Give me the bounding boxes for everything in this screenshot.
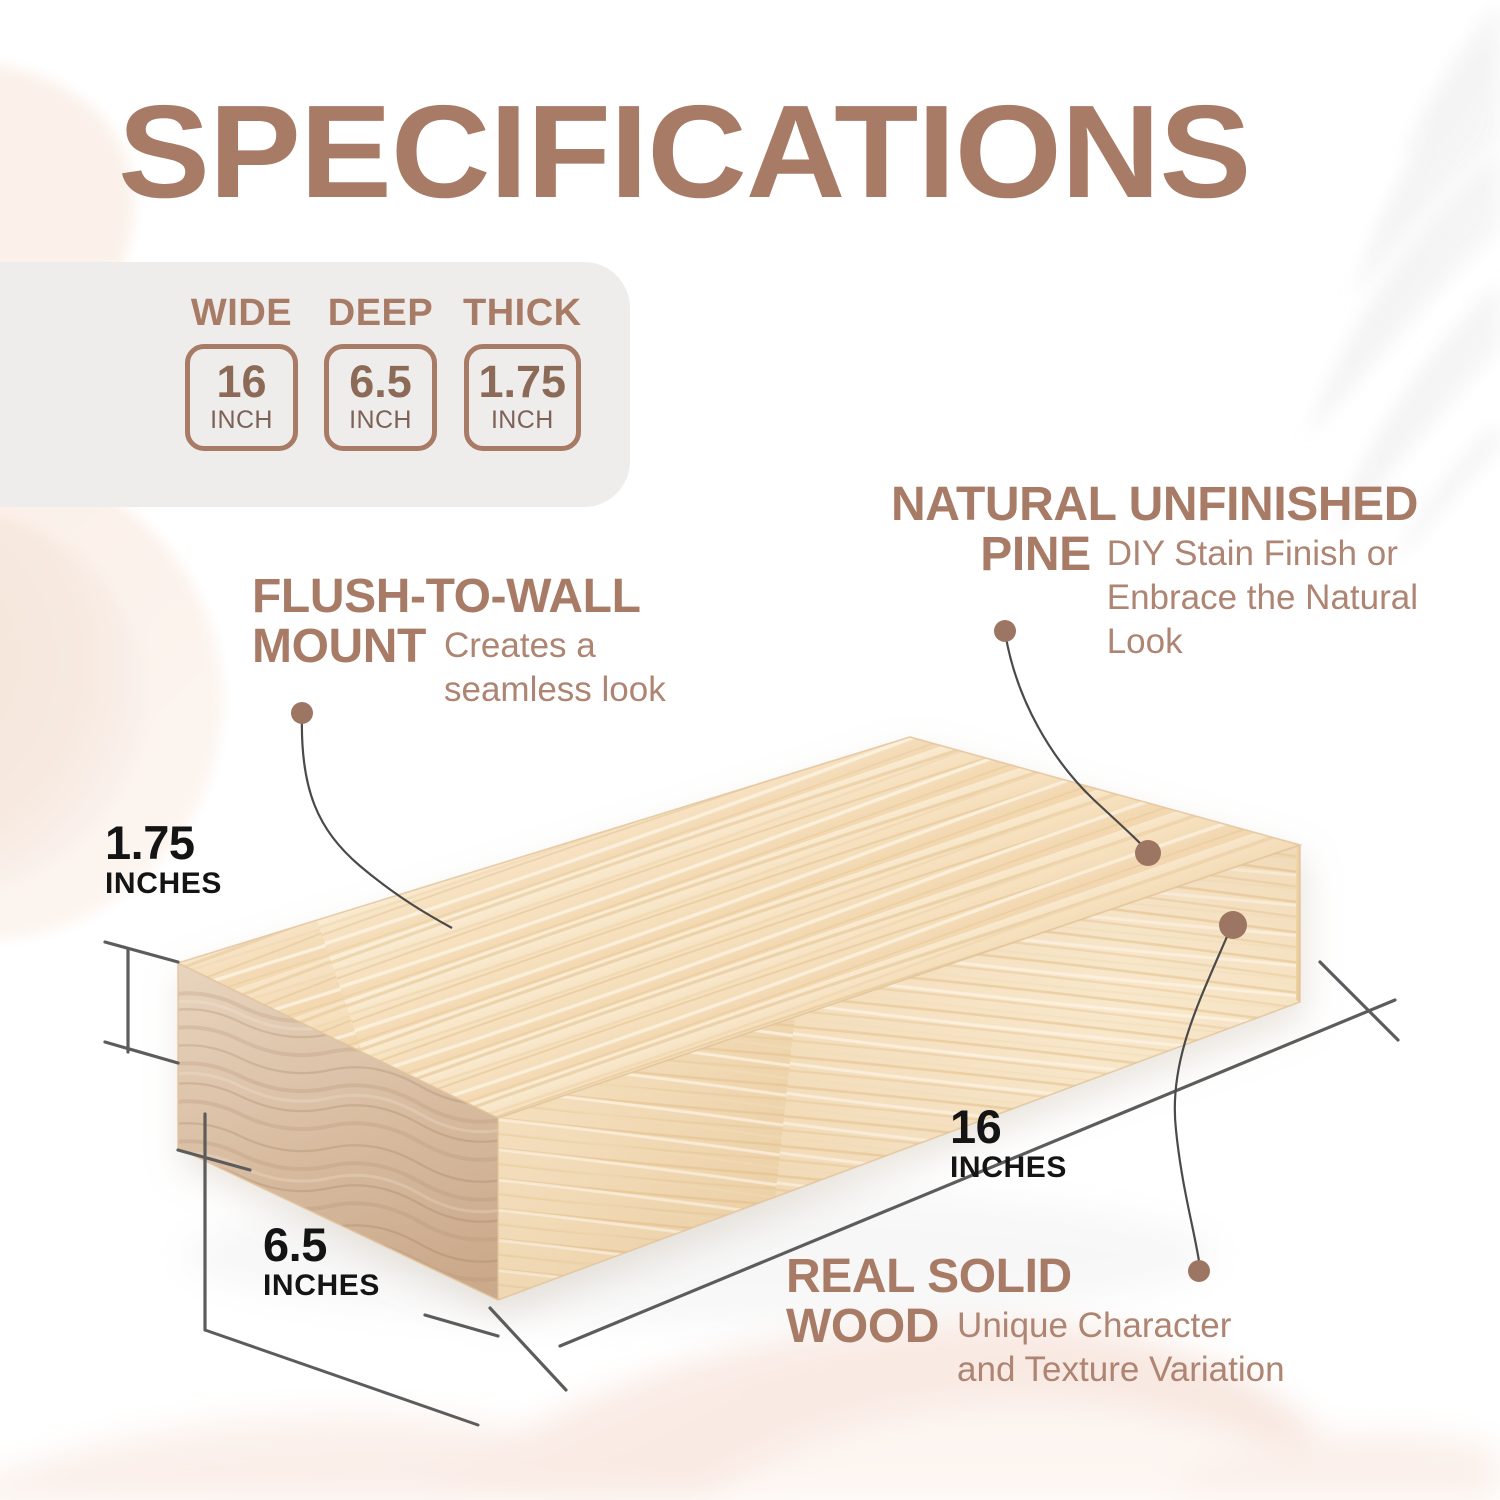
callout-flush-sub-line1: Creates a — [444, 622, 666, 666]
callout-wood-sub-line2: and Texture Variation — [957, 1346, 1285, 1390]
dimtick-depth-top — [178, 1150, 250, 1170]
callout-flush-sub-line2: seamless look — [444, 666, 666, 710]
callout-pine-title-line2: PINE — [980, 530, 1090, 580]
dimtick-thickness-top — [105, 942, 178, 962]
leader-dot-pine-anchor — [1135, 840, 1161, 866]
dimline-depth-lower — [205, 1330, 478, 1425]
callout-natural-unfinished-pine: NATURAL UNFINISHED PINE DIY Stain Finish… — [891, 480, 1418, 663]
dimension-label-width: 16 INCHES — [950, 1104, 1067, 1185]
callout-pine-sub-line3: Look — [1107, 618, 1418, 662]
callout-pine-title-line1: NATURAL UNFINISHED — [891, 480, 1418, 530]
callout-flush-title-line1: FLUSH-TO-WALL — [252, 572, 666, 622]
dimension-label-depth: 6.5 INCHES — [263, 1222, 380, 1303]
callout-wood-sub-line1: Unique Character — [957, 1302, 1285, 1346]
leader-natural-pine — [1005, 632, 1148, 852]
dimension-label-thickness: 1.75 INCHES — [105, 820, 222, 901]
dimtick-thickness-bottom — [105, 1042, 178, 1063]
dimtick-width-left — [490, 1308, 566, 1390]
callout-flush-title-line2: MOUNT — [252, 622, 426, 672]
leader-real-solid-wood — [1175, 925, 1232, 1268]
dimtick-width-right — [1320, 962, 1398, 1040]
dimtick-depth-bottom — [425, 1315, 498, 1336]
callout-wood-title-line1: REAL SOLID — [786, 1252, 1285, 1302]
callout-wood-title-line2: WOOD — [786, 1302, 939, 1352]
dimension-unit-width: INCHES — [950, 1151, 1067, 1185]
dimension-unit-thickness: INCHES — [105, 867, 222, 901]
infographic-canvas: SPECIFICATIONS WIDE 16 INCH DEEP 6.5 INC… — [0, 0, 1500, 1500]
dimension-value-thickness: 1.75 — [105, 820, 222, 866]
callout-pine-sub-line1: DIY Stain Finish or — [1107, 530, 1418, 574]
dimension-value-width: 16 — [950, 1104, 1067, 1150]
callout-pine-sub-line2: Enbrace the Natural — [1107, 574, 1418, 618]
dimension-value-depth: 6.5 — [263, 1222, 380, 1268]
callout-flush-to-wall-mount: FLUSH-TO-WALL MOUNT Creates a seamless l… — [252, 572, 666, 710]
callout-real-solid-wood: REAL SOLID WOOD Unique Character and Tex… — [786, 1252, 1285, 1390]
dimension-unit-depth: INCHES — [263, 1269, 380, 1303]
leader-dot-wood-anchor — [1219, 911, 1247, 939]
leader-flush-to-wall — [302, 714, 452, 928]
